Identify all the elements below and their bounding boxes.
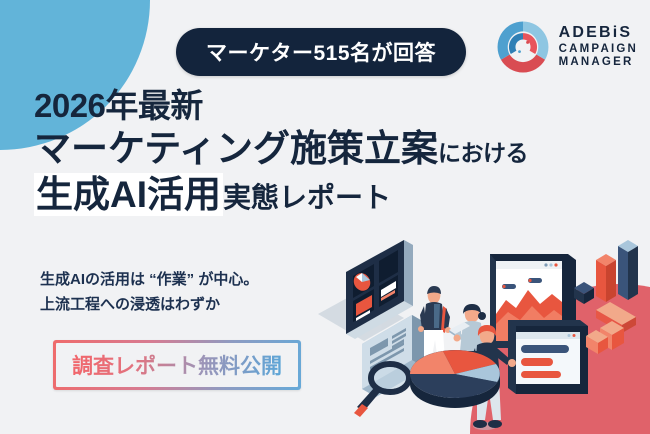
subcopy: 生成AIの活用は “作業” が中心。 上流工程への浸透はわずか: [40, 268, 258, 318]
subcopy-line-2: 上流工程への浸透はわずか: [40, 293, 258, 318]
cta-button-inner: 調査レポート無料公開: [56, 343, 298, 387]
brand-logo-line2: CAMPAIGN: [559, 43, 638, 57]
adebis-swirl-logo-icon: [494, 18, 552, 76]
isometric-illustration: [300, 228, 650, 434]
headline-line-3-suffix: 実態レポート: [223, 182, 391, 213]
brand-logo: ADEBiS CAMPAIGN MANAGER: [494, 18, 638, 76]
brand-logo-line1: ADEBiS: [559, 24, 638, 43]
headline-line-2-main: マーケティング施策立案: [34, 128, 438, 169]
banner-root: マーケター515名が回答 ADEBiS CAMPAIGN MANAGER 202…: [0, 0, 650, 434]
headline: 2026年最新 マーケティング施策立案における 生成AI活用実態レポート: [34, 88, 528, 217]
subcopy-line-1: 生成AIの活用は “作業” が中心。: [40, 268, 258, 293]
arrow-up-block: [586, 302, 636, 354]
cta-button[interactable]: 調査レポート無料公開: [53, 340, 301, 390]
brand-logo-line3: MANAGER: [559, 56, 638, 70]
headline-line-1: 2026年最新: [34, 88, 528, 125]
headline-highlight: 生成AI活用: [34, 173, 223, 216]
bar-chart-group: [574, 240, 638, 304]
headline-line-3: 生成AI活用実態レポート: [34, 173, 528, 217]
pie-chart: [410, 350, 500, 408]
brand-logo-text: ADEBiS CAMPAIGN MANAGER: [559, 24, 638, 70]
respondents-badge-label: マーケター515名が回答: [206, 37, 436, 67]
respondents-badge: マーケター515名が回答: [176, 28, 466, 76]
cta-button-label: 調査レポート無料公開: [72, 350, 282, 380]
headline-line-2-suffix: における: [438, 140, 528, 166]
headline-line-2: マーケティング施策立案における: [34, 127, 528, 171]
tablet-with-bars: [508, 320, 588, 394]
